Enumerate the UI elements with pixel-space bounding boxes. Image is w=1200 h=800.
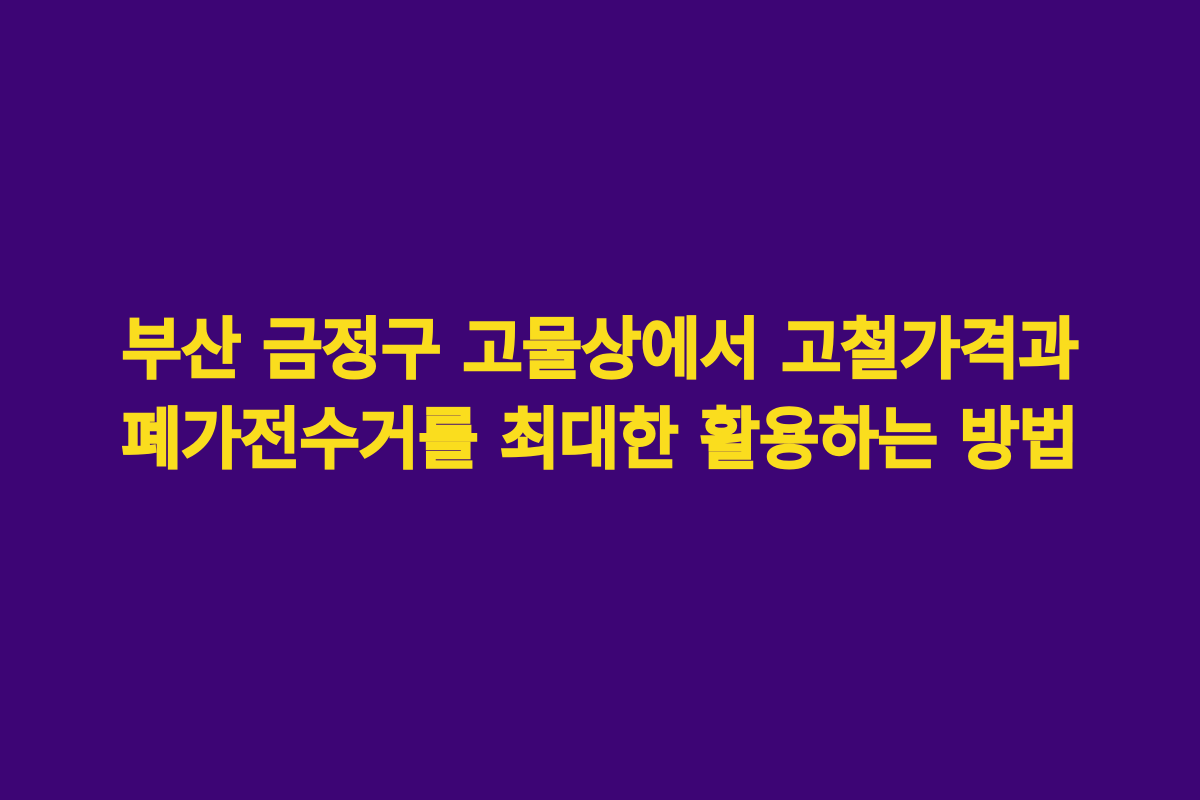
- headline-block: 부산 금정구 고물상에서 고철가격과 폐가전수거를 최대한 활용하는 방법: [0, 312, 1200, 478]
- thumbnail-card: 부산 금정구 고물상에서 고철가격과 폐가전수거를 최대한 활용하는 방법: [0, 0, 1200, 800]
- headline-line-1: 부산 금정구 고물상에서 고철가격과: [58, 312, 1142, 388]
- headline-line-2: 폐가전수거를 최대한 활용하는 방법: [58, 402, 1142, 478]
